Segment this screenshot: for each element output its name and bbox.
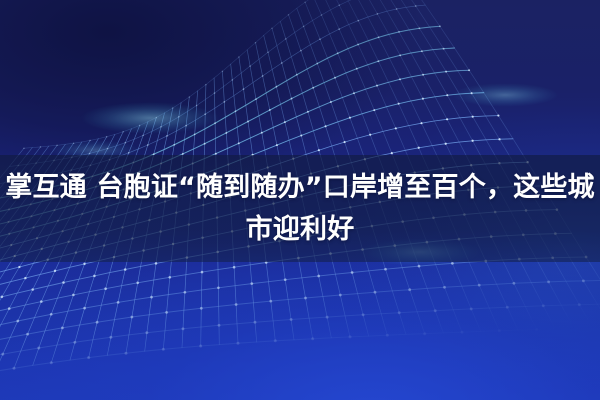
banner-image: 掌互通 台胞证“随到随办”口岸增至百个，这些城 市迎利好 — [0, 0, 600, 400]
headline-line-2: 市迎利好 — [246, 209, 355, 251]
headline-block: 掌互通 台胞证“随到随办”口岸增至百个，这些城 市迎利好 — [0, 155, 600, 262]
headline-line-1: 掌互通 台胞证“随到随办”口岸增至百个，这些城 — [5, 167, 595, 209]
